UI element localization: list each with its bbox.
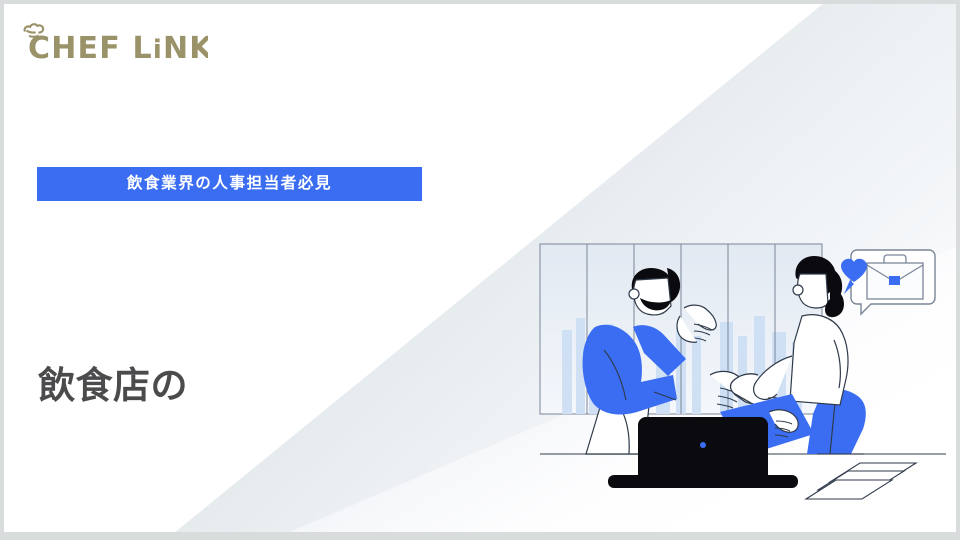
slide-canvas: CHEF LiNK 飲食業界の人事担当者必見 飲食店の 採用・定着率向上マニュア… [4,4,956,532]
page-title: 飲食店の 採用・定着率向上マニュアル [38,236,524,532]
eyebrow-badge-label: 飲食業界の人事担当者必見 [127,176,332,192]
page-title-line-1: 飲食店の [38,356,524,416]
cheflink-logo[interactable]: CHEF LiNK [18,20,208,66]
business-handshake-illustration [534,232,952,517]
briefcase-speech-bubble [851,250,935,314]
eyebrow-badge: 飲食業界の人事担当者必見 [37,167,422,201]
desk-papers [806,463,916,499]
logo-wordmark: CHEF LiNK [28,31,208,66]
